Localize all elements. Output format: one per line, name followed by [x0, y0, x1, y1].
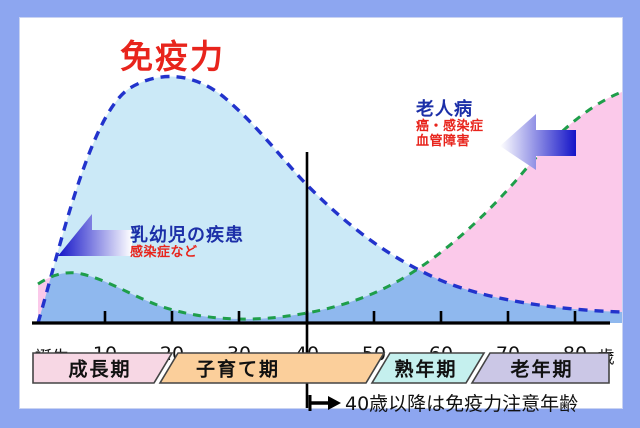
- annotation-elder-sub-line1: 癌・感染症: [416, 120, 484, 135]
- annotation-infant-sub: 感染症など: [130, 246, 244, 261]
- outer-frame: 免疫力 乳幼児の疾患 感染症など 老人病 癌・感染症 血管障害 誕生 10 20…: [0, 0, 640, 428]
- chart-title: 免疫力: [120, 30, 225, 78]
- chart-page: 免疫力 乳幼児の疾患 感染症など 老人病 癌・感染症 血管障害 誕生 10 20…: [20, 18, 622, 408]
- annotation-elder-main: 老人病: [416, 100, 484, 120]
- life-stage-label-mature: 熟年期: [394, 355, 457, 382]
- age-40-note-text: 40歳以降は免疫力注意年齢: [345, 389, 578, 416]
- annotation-elder-sub-line2: 血管障害: [416, 135, 484, 150]
- annotation-infant-main: 乳幼児の疾患: [130, 226, 244, 246]
- life-stage-label-childrearing: 子育て期: [196, 355, 280, 382]
- life-stage-label-oldage: 老年期: [510, 355, 573, 382]
- annotation-infant-disease: 乳幼児の疾患 感染症など: [130, 226, 244, 261]
- age-40-note: 40歳以降は免疫力注意年齢: [308, 389, 578, 416]
- right-arrow-icon: [308, 393, 342, 413]
- annotation-elder-disease: 老人病 癌・感染症 血管障害: [416, 100, 484, 150]
- life-stage-label-growth: 成長期: [68, 355, 131, 382]
